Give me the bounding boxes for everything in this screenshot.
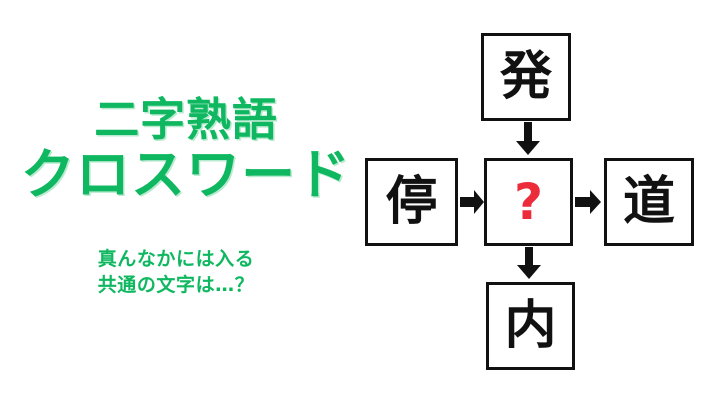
puzzle-cell-top-character: 発 [500, 51, 552, 103]
puzzle-cell-left: 停 [365, 158, 458, 246]
puzzle-cell-right-character: 道 [623, 176, 675, 228]
puzzle-cell-left-character: 停 [385, 176, 437, 228]
puzzle-canvas: 二字熟語 クロスワード 真んなかには入る 共通の文字は…？ 発 停 ? 道 内 [0, 0, 720, 405]
puzzle-answer-placeholder: ? [514, 177, 543, 227]
puzzle-cell-center[interactable]: ? [484, 158, 573, 246]
puzzle-cell-right: 道 [604, 158, 694, 246]
puzzle-cell-bottom-character: 内 [504, 300, 556, 352]
puzzle-cell-top: 発 [481, 33, 571, 121]
puzzle-cell-bottom: 内 [486, 282, 575, 370]
arrow-down-icon-center-to-bottom [514, 247, 544, 280]
crossword-diagram: 発 停 ? 道 内 [0, 0, 720, 405]
arrow-down-icon-top-to-center [513, 122, 543, 156]
arrow-right-icon-left-to-center [460, 187, 485, 217]
arrow-right-icon-center-to-right [575, 187, 602, 217]
